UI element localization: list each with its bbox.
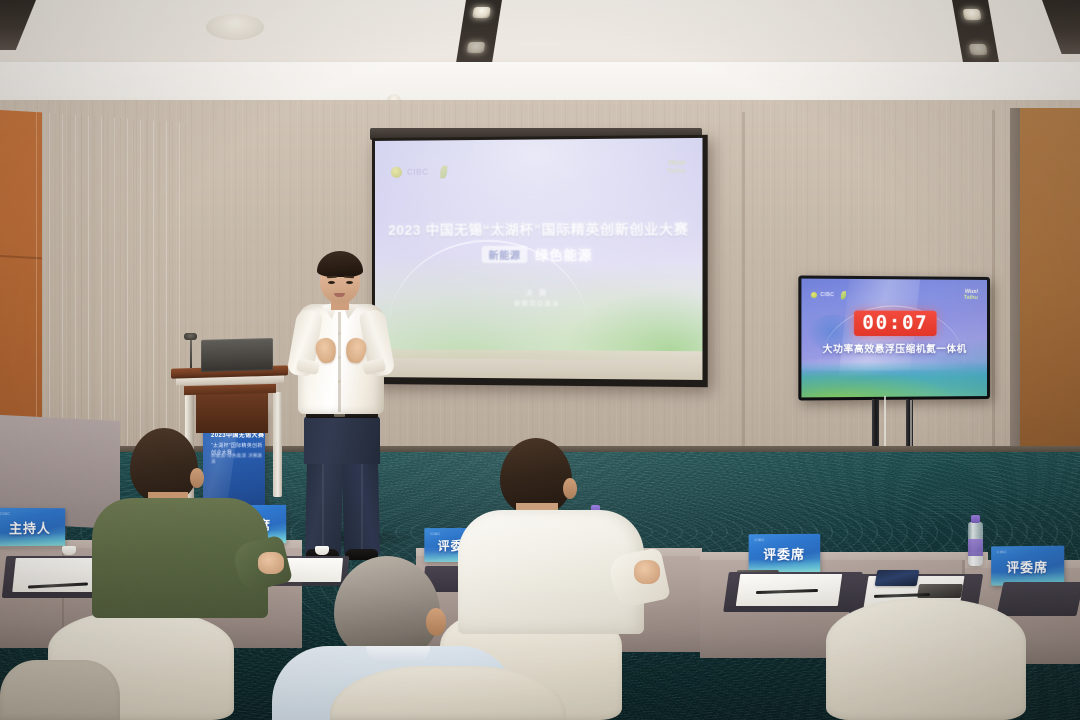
tv-screen: CIBC Wuxi Taihu 00:07 大功率高效悬浮压缩机氦一体机 (801, 279, 987, 398)
water-bottle[interactable] (968, 522, 983, 566)
tv-monitor: CIBC Wuxi Taihu 00:07 大功率高效悬浮压缩机氦一体机 (802, 277, 990, 399)
slide-logo-mark-icon (391, 167, 402, 178)
ceiling-spotlight-icon (467, 42, 486, 53)
placard-label: 主持人 (9, 517, 51, 536)
cup (62, 546, 76, 555)
cup (315, 546, 329, 555)
speaker-eye (328, 281, 335, 284)
slide-footer-line2: 参赛项目路演 (375, 299, 702, 310)
conference-room-photo: CIBC Wuxi Taihu 2023 中国无锡“太湖杯”国际精英创新创业大赛… (0, 0, 1080, 720)
slide-logo-right-line2: Taihu (667, 167, 686, 175)
tv-logo-text: CIBC (820, 292, 834, 298)
placard-judge-3: CIBC 评委席 (749, 534, 821, 572)
slide-bottom-band (375, 349, 702, 380)
wall-panel-seam (992, 110, 995, 450)
tv-hill-graphic (801, 361, 987, 397)
placard-host: CIBC 主持人 (0, 508, 65, 547)
placard-logo: CIBC (997, 549, 1007, 554)
desk-mat (996, 582, 1080, 616)
slide-logo-right: Wuxi Taihu (667, 160, 686, 175)
slide-footer-line1: 决 赛 (375, 287, 702, 299)
slide-subtitle-text: 绿色能源 (535, 245, 593, 264)
wall-fabric-panel (36, 112, 186, 463)
microphone-stem (190, 338, 192, 368)
judge-a-hand (258, 552, 284, 574)
ceiling-spotlight-icon (963, 9, 982, 20)
slide-leaf-icon (440, 165, 447, 178)
speaker-leg-left (305, 458, 343, 557)
lectern-laptop-screen[interactable] (201, 338, 273, 372)
shirt-button (338, 356, 341, 359)
tv-logo-left: CIBC (811, 291, 846, 299)
ceiling-spotlight-icon (472, 7, 491, 18)
countdown-timer: 00:07 (854, 311, 936, 336)
slide-subtitle-pill: 新能源 (481, 246, 527, 263)
shirt-placket (338, 312, 341, 412)
judge-b-hand (634, 560, 660, 584)
chair-cover (0, 660, 120, 720)
tv-logo-right-line2: Taihu (964, 295, 978, 301)
judge-a-ear (190, 468, 204, 488)
shirt-button (338, 380, 341, 383)
microphone-icon (184, 333, 197, 340)
tv-logo-right: Wuxi Taihu (964, 289, 978, 301)
bottle-cap-icon (971, 515, 980, 523)
slide-title: 2023 中国无锡“太湖杯”国际精英创新创业大赛 (375, 218, 702, 239)
trouser-crease (322, 460, 324, 552)
chair-cover (826, 598, 1026, 720)
trouser-crease (361, 460, 363, 552)
placard-label: 评委席 (1006, 556, 1048, 575)
speaker-eye (346, 281, 353, 284)
judge-c-ear (426, 608, 446, 636)
ceiling-dome-fixture (206, 14, 264, 40)
speaker-hips (304, 416, 380, 464)
phone[interactable] (875, 570, 920, 586)
banner-line3: 新能源·绿色能源 决赛路演 (211, 453, 265, 465)
slide-logo-right-line1: Wuxi (667, 160, 686, 168)
slide-logo-text: CIBC (407, 167, 429, 176)
placard-label: 评委席 (763, 543, 805, 562)
placard-logo: CIBC (0, 511, 10, 516)
slide-subtitle: 新能源 绿色能源 (375, 244, 702, 263)
wall-panel-seam (742, 112, 745, 448)
ceiling-spotlight-icon (969, 44, 988, 55)
tv-logo-mark-icon (811, 292, 817, 298)
lectern-body (196, 393, 268, 433)
judge-b-ear (563, 478, 577, 499)
slide-footer: 决 赛 参赛项目路演 (375, 287, 702, 309)
bottle-label (968, 539, 983, 556)
tv-leaf-icon (840, 291, 845, 299)
slide-logo-left: CIBC (391, 165, 447, 178)
shirt-button (338, 332, 341, 335)
tv-bezel: CIBC Wuxi Taihu 00:07 大功率高效悬浮压缩机氦一体机 (798, 275, 990, 400)
projection-screen: CIBC Wuxi Taihu 2023 中国无锡“太湖杯”国际精英创新创业大赛… (372, 135, 708, 387)
wall-wood-column (1020, 108, 1080, 468)
placard-logo: CIBC (754, 537, 764, 542)
placard-judge-4: CIBC 评委席 (991, 546, 1064, 587)
judge-c-collar (366, 646, 430, 664)
judge-a-head (130, 428, 198, 502)
lectern-leg (273, 392, 282, 497)
judge-c-head (334, 556, 440, 660)
placard-logo: CIBC (430, 531, 440, 536)
